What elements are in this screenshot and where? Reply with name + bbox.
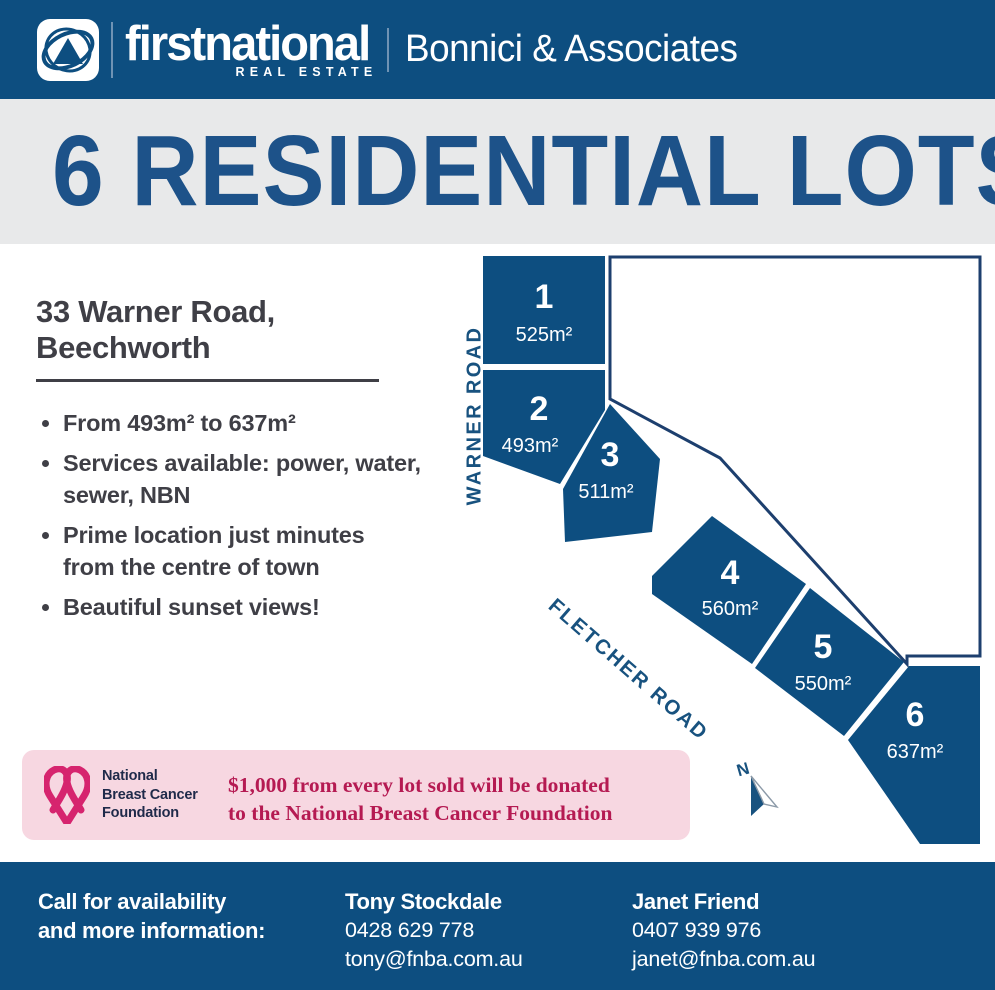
pink-ribbon-icon (44, 766, 90, 824)
lot-area: 511m² (578, 481, 634, 503)
address-line-1: 33 Warner Road, (36, 294, 275, 329)
lot-number: 6 (906, 696, 925, 734)
call-prompt: Call for availability and more informati… (38, 887, 338, 945)
property-address: 33 Warner Road, Beechworth (36, 294, 396, 366)
brand-wordmark: firstnational REAL ESTATE (125, 21, 379, 79)
contact-phone[interactable]: 0428 629 778 (345, 916, 625, 945)
call-prompt-line-1: Call for availability (38, 889, 226, 914)
list-item: Beautiful sunset views! (36, 591, 422, 623)
lot-area: 637m² (887, 741, 944, 763)
brand-name: firstnational (125, 21, 369, 67)
contact-name: Tony Stockdale (345, 887, 625, 916)
logo-divider (111, 22, 113, 78)
contact-email[interactable]: janet@fnba.com.au (632, 945, 932, 974)
road-label-warner: WARNER ROAD (464, 316, 487, 516)
agency-name: Bonnici & Associates (405, 28, 737, 71)
site-plan-map: 1 525m² 2 493m² 3 511m² 4 560m² 5 550m² … (420, 244, 995, 862)
lot-area: 550m² (795, 673, 852, 695)
charity-org-name: National Breast Cancer Foundation (102, 767, 242, 823)
site-plan-svg: 1 525m² 2 493m² 3 511m² 4 560m² 5 550m² … (420, 244, 995, 862)
lot-area: 525m² (516, 324, 573, 346)
lot-number: 5 (814, 628, 833, 666)
contact-card-2: Janet Friend 0407 939 976 janet@fnba.com… (632, 887, 932, 974)
charity-name-line-1: National (102, 768, 158, 784)
lot-number: 2 (530, 390, 549, 428)
lot-area: 560m² (702, 598, 759, 620)
list-item: From 493m² to 637m² (36, 407, 422, 439)
address-line-2: Beechworth (36, 330, 210, 365)
first-national-logo-icon (37, 19, 99, 81)
lot-number: 3 (601, 436, 620, 474)
contact-card-1: Tony Stockdale 0428 629 778 tony@fnba.co… (345, 887, 625, 974)
headline-band: 6 RESIDENTIAL LOTS (0, 99, 995, 244)
north-arrow-icon: N (737, 760, 789, 818)
logo-triangle (53, 38, 83, 64)
advertisement-page: firstnational REAL ESTATE Bonnici & Asso… (0, 0, 995, 990)
site-header: firstnational REAL ESTATE Bonnici & Asso… (0, 0, 995, 99)
charity-name-line-3: Foundation (102, 805, 179, 821)
list-item: Prime location just minutes from the cen… (36, 519, 422, 583)
lot-number: 1 (535, 278, 554, 316)
lot-number: 4 (721, 554, 740, 592)
charity-name-line-2: Breast Cancer (102, 787, 198, 803)
divider-rule (36, 379, 379, 382)
lot-area: 493m² (502, 435, 559, 457)
contact-name: Janet Friend (632, 887, 932, 916)
agency-divider (387, 28, 389, 72)
contact-email[interactable]: tony@fnba.com.au (345, 945, 625, 974)
feature-list: From 493m² to 637m² Services available: … (36, 407, 422, 631)
list-item: Services available: power, water, sewer,… (36, 447, 422, 511)
contact-footer: Call for availability and more informati… (0, 862, 995, 990)
call-prompt-line-2: and more information: (38, 918, 265, 943)
contact-phone[interactable]: 0407 939 976 (632, 916, 932, 945)
page-title: 6 RESIDENTIAL LOTS (52, 117, 995, 225)
